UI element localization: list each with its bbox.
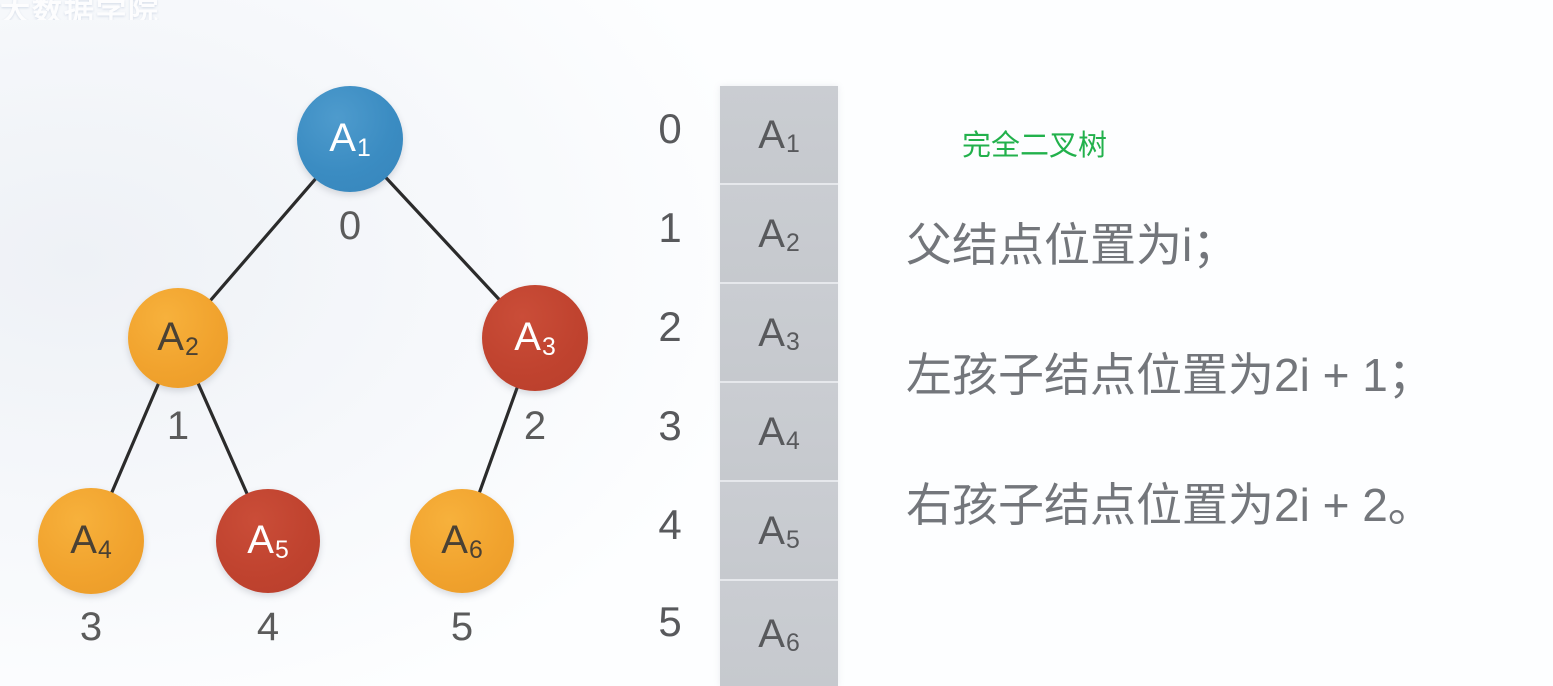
array-cell-label: A2 bbox=[758, 214, 799, 254]
tree-node-a3[interactable]: A3 bbox=[482, 285, 588, 391]
tree-position-label-3: 3 bbox=[71, 607, 111, 647]
tree-node-a4[interactable]: A4 bbox=[38, 488, 144, 594]
diagram-canvas: 大数据学院 A1A2A3A4A5A6 012345 012345 A1A2A3A… bbox=[0, 0, 1553, 686]
binary-tree-diagram: A1A2A3A4A5A6 012345 bbox=[0, 0, 620, 686]
array-index-2: 2 bbox=[640, 306, 700, 348]
tree-node-label: A4 bbox=[70, 520, 111, 560]
note-line-left-child: 左孩子结点位置为2i + 1； bbox=[906, 352, 1434, 398]
array-index-column: 012345 bbox=[640, 0, 700, 686]
notes-panel: 完全二叉树 父结点位置为i； 左孩子结点位置为2i + 1； 右孩子结点位置为2… bbox=[900, 0, 1553, 686]
tree-node-label: A3 bbox=[514, 317, 555, 357]
array-cell[interactable]: A5 bbox=[720, 482, 838, 581]
array-cell[interactable]: A3 bbox=[720, 284, 838, 383]
array-cell-label: A5 bbox=[758, 511, 799, 551]
tree-node-label: A2 bbox=[157, 317, 198, 357]
tree-node-label: A1 bbox=[329, 118, 370, 158]
tree-position-label-4: 4 bbox=[248, 607, 288, 647]
tree-node-label: A6 bbox=[441, 520, 482, 560]
array-cell[interactable]: A6 bbox=[720, 581, 838, 686]
array-index-0: 0 bbox=[640, 108, 700, 150]
tree-node-a6[interactable]: A6 bbox=[410, 489, 514, 593]
tree-position-label-2: 2 bbox=[515, 406, 555, 446]
tree-position-label-0: 0 bbox=[330, 206, 370, 246]
array-cell[interactable]: A1 bbox=[720, 86, 838, 185]
tree-edge bbox=[208, 176, 318, 303]
array-index-1: 1 bbox=[640, 207, 700, 249]
tree-edge bbox=[383, 175, 501, 302]
array-cells-column: A1A2A3A4A5A6 bbox=[720, 86, 838, 686]
array-cell-label: A6 bbox=[758, 614, 799, 654]
tree-edge bbox=[478, 384, 518, 496]
array-cell-label: A1 bbox=[758, 115, 799, 155]
array-cell[interactable]: A2 bbox=[720, 185, 838, 284]
tree-node-a2[interactable]: A2 bbox=[128, 288, 228, 388]
notes-heading: 完全二叉树 bbox=[962, 132, 1107, 161]
array-index-5: 5 bbox=[640, 601, 700, 643]
tree-node-a5[interactable]: A5 bbox=[216, 489, 320, 593]
note-line-right-child: 右孩子结点位置为2i + 2。 bbox=[906, 482, 1434, 528]
tree-node-a1[interactable]: A1 bbox=[297, 86, 403, 192]
tree-edge bbox=[197, 380, 249, 497]
array-cell-label: A3 bbox=[758, 313, 799, 353]
array-index-3: 3 bbox=[640, 405, 700, 447]
array-cell[interactable]: A4 bbox=[720, 383, 838, 482]
tree-edge bbox=[110, 380, 160, 496]
array-index-4: 4 bbox=[640, 504, 700, 546]
note-line-parent: 父结点位置为i； bbox=[906, 222, 1238, 268]
tree-position-label-5: 5 bbox=[442, 607, 482, 647]
array-cell-label: A4 bbox=[758, 412, 799, 452]
tree-position-label-1: 1 bbox=[158, 406, 198, 446]
tree-node-label: A5 bbox=[247, 520, 288, 560]
